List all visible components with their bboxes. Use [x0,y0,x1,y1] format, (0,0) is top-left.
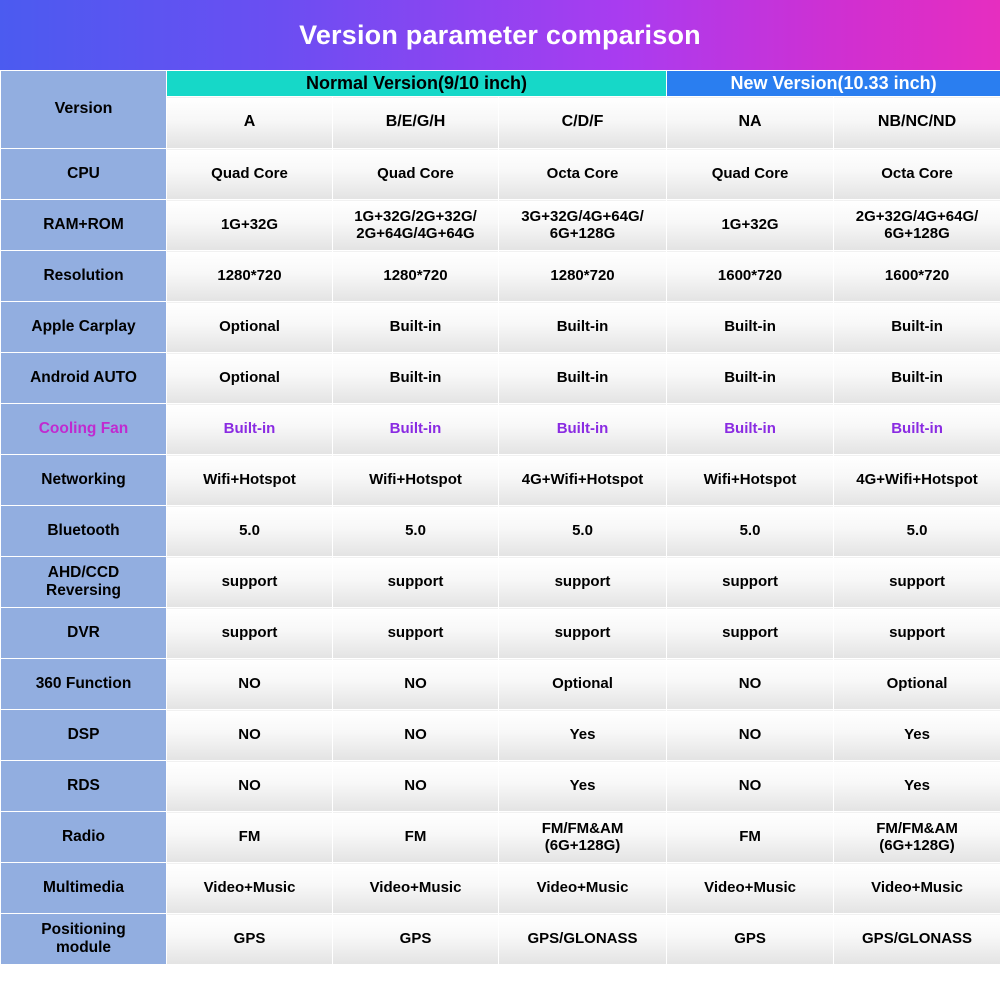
cell-line1: support [336,573,495,591]
row-label: Apple Carplay [1,302,167,353]
cell-value: 1G+32G [167,200,333,251]
cell-value: GPS/GLONASS [499,914,667,965]
header-model-4: NA [667,97,834,149]
cell-value: NO [667,761,834,812]
cell-value: Video+Music [333,863,499,914]
cell-line1: 4G+Wifi+Hotspot [837,471,997,489]
cell-line1: Quad Core [170,165,329,183]
table-row: PositioningmoduleGPSGPSGPS/GLONASSGPSGPS… [1,914,1000,965]
cell-line1: Octa Core [502,165,663,183]
cell-value: Built-in [499,353,667,404]
cell-value: GPS [167,914,333,965]
row-label-line2: module [4,939,163,957]
cell-value: support [333,557,499,608]
cell-line1: Built-in [170,420,329,438]
cell-value: FM/FM&AM(6G+128G) [499,812,667,863]
cell-line1: Built-in [837,318,997,336]
page-title: Version parameter comparison [299,20,701,51]
cell-value: Optional [167,302,333,353]
cell-line1: Built-in [336,318,495,336]
row-label-line1: RAM+ROM [4,216,163,234]
cell-value: 2G+32G/4G+64G/6G+128G [834,200,1000,251]
row-label: Resolution [1,251,167,302]
cell-line1: NO [170,675,329,693]
cell-line1: 4G+Wifi+Hotspot [502,471,663,489]
row-label-line1: Bluetooth [4,522,163,540]
cell-value: Video+Music [499,863,667,914]
row-label-line1: Positioning [4,921,163,939]
cell-line1: 1280*720 [170,267,329,285]
cell-line2: (6G+128G) [837,837,997,855]
cell-line1: Quad Core [336,165,495,183]
cell-value: Wifi+Hotspot [167,455,333,506]
row-label-line1: Cooling Fan [4,420,163,438]
cell-value: NO [167,659,333,710]
row-label: AHD/CCDReversing [1,557,167,608]
cell-value: NO [167,710,333,761]
cell-value: Yes [499,710,667,761]
cell-line1: NO [336,675,495,693]
cell-line1: Built-in [502,420,663,438]
cell-value: Yes [834,761,1000,812]
cell-value: Octa Core [499,149,667,200]
cell-value: FM [667,812,834,863]
header-group-new-version: New Version(10.33 inch) [667,71,1000,97]
row-label-line1: AHD/CCD [4,564,163,582]
cell-value: support [667,557,834,608]
row-label-line1: Networking [4,471,163,489]
cell-line1: Built-in [670,369,830,387]
cell-value: 3G+32G/4G+64G/6G+128G [499,200,667,251]
row-label: RAM+ROM [1,200,167,251]
cell-line1: Wifi+Hotspot [336,471,495,489]
row-label: Networking [1,455,167,506]
cell-value: support [333,608,499,659]
table-row: DVRsupportsupportsupportsupportsupport [1,608,1000,659]
cell-line1: support [170,573,329,591]
table-row: RAM+ROM1G+32G1G+32G/2G+32G/2G+64G/4G+64G… [1,200,1000,251]
cell-value: support [499,608,667,659]
table-row: CPUQuad CoreQuad CoreOcta CoreQuad CoreO… [1,149,1000,200]
cell-value: Built-in [167,404,333,455]
cell-value: 1600*720 [834,251,1000,302]
cell-line1: Built-in [502,318,663,336]
row-label: 360 Function [1,659,167,710]
row-label-line1: Apple Carplay [4,318,163,336]
cell-line1: GPS/GLONASS [837,930,997,948]
cell-line2: 6G+128G [837,225,997,243]
cell-value: support [167,608,333,659]
table-row: Bluetooth5.05.05.05.05.0 [1,506,1000,557]
cell-value: 5.0 [333,506,499,557]
cell-line1: 5.0 [336,522,495,540]
cell-value: NO [333,710,499,761]
cell-line1: 3G+32G/4G+64G/ [502,208,663,226]
cell-line1: Built-in [837,369,997,387]
cell-line2: 6G+128G [502,225,663,243]
cell-value: Optional [499,659,667,710]
cell-value: support [167,557,333,608]
cell-value: 1280*720 [499,251,667,302]
cell-line1: support [502,624,663,642]
row-label-line2: Reversing [4,582,163,600]
comparison-table: VersionNormal Version(9/10 inch)New Vers… [0,70,1000,965]
cell-value: Wifi+Hotspot [667,455,834,506]
cell-value: Built-in [667,302,834,353]
cell-line1: Built-in [837,420,997,438]
cell-line1: Built-in [670,318,830,336]
cell-line1: Optional [170,318,329,336]
cell-line1: 1280*720 [502,267,663,285]
cell-line1: GPS [336,930,495,948]
cell-value: 1G+32G/2G+32G/2G+64G/4G+64G [333,200,499,251]
cell-line1: Optional [170,369,329,387]
row-label: CPU [1,149,167,200]
cell-value: GPS [333,914,499,965]
header-model-1: A [167,97,333,149]
cell-line1: FM [336,828,495,846]
cell-line1: 1G+32G/2G+32G/ [336,208,495,226]
cell-value: 4G+Wifi+Hotspot [499,455,667,506]
cell-line1: 5.0 [170,522,329,540]
row-label-line1: DVR [4,624,163,642]
cell-line1: support [837,624,997,642]
cell-value: Video+Music [834,863,1000,914]
cell-line1: 1280*720 [336,267,495,285]
cell-value: NO [333,659,499,710]
cell-line1: Video+Music [670,879,830,897]
cell-value: 1280*720 [333,251,499,302]
table-row: Cooling FanBuilt-inBuilt-inBuilt-inBuilt… [1,404,1000,455]
cell-value: NO [667,659,834,710]
cell-value: NO [333,761,499,812]
header-version-label: Version [1,71,167,149]
cell-line1: GPS [670,930,830,948]
table-header-row-groups: VersionNormal Version(9/10 inch)New Vers… [1,71,1000,97]
table-row: Android AUTOOptionalBuilt-inBuilt-inBuil… [1,353,1000,404]
cell-line1: Yes [837,777,997,795]
cell-value: Video+Music [667,863,834,914]
cell-line1: NO [670,777,830,795]
cell-value: Built-in [333,302,499,353]
cell-value: Built-in [333,353,499,404]
cell-value: GPS/GLONASS [834,914,1000,965]
title-bar: Version parameter comparison [0,0,1000,70]
cell-line1: support [336,624,495,642]
cell-value: NO [167,761,333,812]
cell-line1: support [670,624,830,642]
table-row: RDSNONOYesNOYes [1,761,1000,812]
cell-line1: 1600*720 [837,267,997,285]
cell-value: Built-in [834,404,1000,455]
row-label-line1: Android AUTO [4,369,163,387]
row-label: Multimedia [1,863,167,914]
cell-value: support [499,557,667,608]
cell-value: Optional [834,659,1000,710]
cell-line1: Octa Core [837,165,997,183]
cell-value: Optional [167,353,333,404]
row-label-line1: DSP [4,726,163,744]
cell-line1: Yes [837,726,997,744]
row-label: Positioningmodule [1,914,167,965]
cell-line1: Wifi+Hotspot [670,471,830,489]
cell-value: FM [167,812,333,863]
cell-line1: support [837,573,997,591]
cell-line1: FM/FM&AM [502,820,663,838]
cell-value: Built-in [667,404,834,455]
cell-value: Built-in [667,353,834,404]
header-model-5: NB/NC/ND [834,97,1000,149]
cell-line2: (6G+128G) [502,837,663,855]
cell-line1: Quad Core [670,165,830,183]
cell-value: NO [667,710,834,761]
cell-line1: Video+Music [170,879,329,897]
cell-value: Quad Core [667,149,834,200]
table-row: AHD/CCDReversingsupportsupportsupportsup… [1,557,1000,608]
page-root: Version parameter comparison VersionNorm… [0,0,1000,1000]
cell-line1: NO [170,726,329,744]
cell-line1: support [670,573,830,591]
cell-value: FM [333,812,499,863]
cell-value: Octa Core [834,149,1000,200]
cell-value: support [834,557,1000,608]
cell-value: FM/FM&AM(6G+128G) [834,812,1000,863]
cell-line1: FM [670,828,830,846]
cell-value: Quad Core [167,149,333,200]
row-label: Radio [1,812,167,863]
cell-value: 5.0 [834,506,1000,557]
cell-line1: Video+Music [336,879,495,897]
cell-value: Yes [834,710,1000,761]
row-label: DVR [1,608,167,659]
cell-value: GPS [667,914,834,965]
cell-line1: Optional [837,675,997,693]
cell-line1: NO [336,777,495,795]
cell-line1: GPS [170,930,329,948]
table-row: NetworkingWifi+HotspotWifi+Hotspot4G+Wif… [1,455,1000,506]
cell-value: 1G+32G [667,200,834,251]
row-label-line1: CPU [4,165,163,183]
header-model-3: C/D/F [499,97,667,149]
cell-line1: NO [170,777,329,795]
cell-line1: FM/FM&AM [837,820,997,838]
cell-line1: Yes [502,726,663,744]
row-label-line1: 360 Function [4,675,163,693]
cell-line1: Built-in [670,420,830,438]
header-model-2: B/E/G/H [333,97,499,149]
cell-line1: FM [170,828,329,846]
cell-line2: 2G+64G/4G+64G [336,225,495,243]
cell-line1: 2G+32G/4G+64G/ [837,208,997,226]
cell-line1: 5.0 [502,522,663,540]
header-group-normal-version: Normal Version(9/10 inch) [167,71,667,97]
cell-value: 5.0 [499,506,667,557]
cell-value: Video+Music [167,863,333,914]
cell-value: 1600*720 [667,251,834,302]
cell-value: Built-in [333,404,499,455]
cell-value: Built-in [499,302,667,353]
cell-value: 5.0 [167,506,333,557]
row-label: Bluetooth [1,506,167,557]
row-label: RDS [1,761,167,812]
cell-value: support [667,608,834,659]
cell-value: Yes [499,761,667,812]
cell-line1: 1G+32G [170,216,329,234]
row-label: Android AUTO [1,353,167,404]
cell-value: 5.0 [667,506,834,557]
cell-line1: NO [670,675,830,693]
cell-line1: Yes [502,777,663,795]
cell-value: Built-in [834,302,1000,353]
cell-line1: support [502,573,663,591]
cell-value: support [834,608,1000,659]
cell-line1: Optional [502,675,663,693]
cell-line1: Video+Music [837,879,997,897]
table-row: Apple CarplayOptionalBuilt-inBuilt-inBui… [1,302,1000,353]
cell-line1: NO [670,726,830,744]
cell-line1: 1600*720 [670,267,830,285]
cell-line1: Built-in [336,369,495,387]
cell-line1: 5.0 [837,522,997,540]
cell-line1: support [170,624,329,642]
table-row: RadioFMFMFM/FM&AM(6G+128G)FMFM/FM&AM(6G+… [1,812,1000,863]
row-label: Cooling Fan [1,404,167,455]
cell-line1: 1G+32G [670,216,830,234]
row-label-line1: RDS [4,777,163,795]
table-row: MultimediaVideo+MusicVideo+MusicVideo+Mu… [1,863,1000,914]
cell-line1: 5.0 [670,522,830,540]
table-row: DSPNONOYesNOYes [1,710,1000,761]
table-row: 360 FunctionNONOOptionalNOOptional [1,659,1000,710]
cell-line1: Built-in [502,369,663,387]
cell-line1: GPS/GLONASS [502,930,663,948]
row-label-line1: Resolution [4,267,163,285]
row-label-line1: Radio [4,828,163,846]
row-label-line1: Multimedia [4,879,163,897]
cell-line1: Wifi+Hotspot [170,471,329,489]
cell-value: Built-in [499,404,667,455]
cell-line1: Built-in [336,420,495,438]
cell-value: Wifi+Hotspot [333,455,499,506]
cell-value: Built-in [834,353,1000,404]
cell-value: 4G+Wifi+Hotspot [834,455,1000,506]
table-row: Resolution1280*7201280*7201280*7201600*7… [1,251,1000,302]
cell-line1: Video+Music [502,879,663,897]
cell-value: 1280*720 [167,251,333,302]
cell-value: Quad Core [333,149,499,200]
row-label: DSP [1,710,167,761]
cell-line1: NO [336,726,495,744]
